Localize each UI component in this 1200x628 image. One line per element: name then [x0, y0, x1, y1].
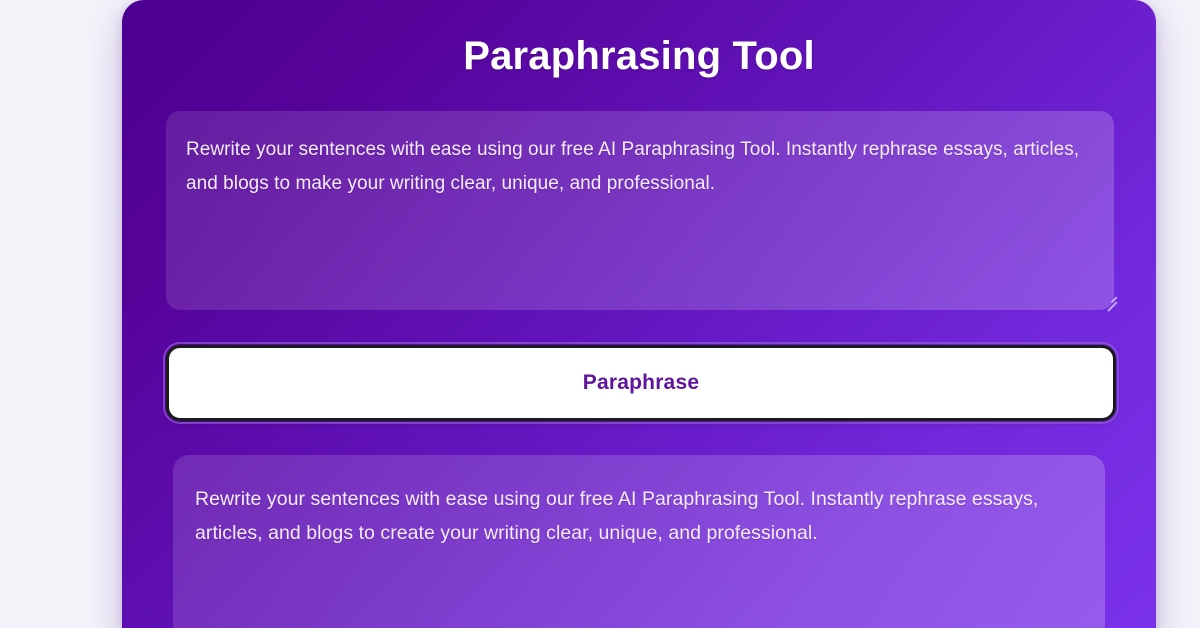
page-root: Paraphrasing Tool Paraphrase Rewrite you…	[0, 0, 1200, 628]
paraphrasing-tool-card: Paraphrasing Tool Paraphrase Rewrite you…	[122, 0, 1156, 628]
resize-grip-icon[interactable]	[1100, 288, 1118, 306]
page-title: Paraphrasing Tool	[122, 28, 1156, 84]
source-text-input[interactable]	[166, 111, 1114, 310]
paraphrase-button[interactable]: Paraphrase	[166, 345, 1116, 421]
paraphrased-output[interactable]: Rewrite your sentences with ease using o…	[173, 455, 1105, 628]
